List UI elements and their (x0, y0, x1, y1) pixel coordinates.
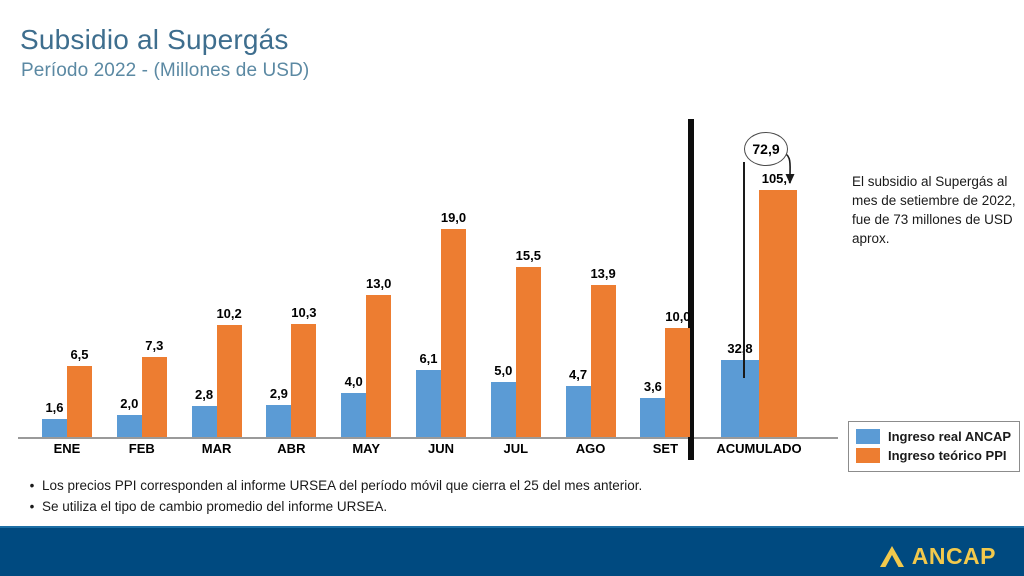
slide-canvas: Subsidio al Supergás Período 2022 - (Mil… (0, 0, 1024, 576)
bar-value-teorico-jul: 15,5 (498, 248, 558, 263)
bar-real-ago[interactable] (566, 386, 591, 437)
bar-real-feb[interactable] (117, 415, 142, 437)
bar-real-acumulado[interactable] (721, 360, 759, 437)
bar-real-set[interactable] (640, 398, 665, 437)
bar-value-real-jul: 5,0 (473, 363, 533, 378)
footnote-item: • Los precios PPI corresponden al inform… (22, 476, 722, 497)
bar-teorico-ago[interactable] (591, 285, 616, 437)
bar-value-teorico-feb: 7,3 (124, 338, 184, 353)
bar-value-real-jun: 6,1 (399, 351, 459, 366)
bar-value-real-set: 3,6 (623, 379, 683, 394)
legend-label-teorico: Ingreso teórico PPI (888, 448, 1006, 463)
bar-teorico-jul[interactable] (516, 267, 541, 437)
footer-band (0, 528, 1024, 576)
footnote-list: • Los precios PPI corresponden al inform… (22, 476, 722, 518)
legend-item-teorico[interactable]: Ingreso teórico PPI (856, 446, 1011, 465)
bar-value-real-abr: 2,9 (249, 386, 309, 401)
bar-value-teorico-set: 10,0 (648, 309, 708, 324)
legend-item-real[interactable]: Ingreso real ANCAP (856, 427, 1011, 446)
category-label-set: SET (615, 441, 715, 456)
ancap-logo: ANCAP (879, 543, 996, 570)
bar-real-mar[interactable] (192, 406, 217, 437)
footnote-bullet-icon: • (22, 476, 42, 497)
bar-value-teorico-jun: 19,0 (424, 210, 484, 225)
bar-value-teorico-mar: 10,2 (199, 306, 259, 321)
bar-real-jun[interactable] (416, 370, 441, 437)
ancap-logo-text: ANCAP (912, 543, 996, 570)
callout-leader-line (743, 162, 745, 378)
footnote-text: Los precios PPI corresponden al informe … (42, 476, 642, 497)
x-axis-line (18, 437, 838, 439)
legend-swatch-teorico-icon (856, 448, 880, 463)
bar-teorico-jun[interactable] (441, 229, 466, 437)
bar-value-real-feb: 2,0 (99, 396, 159, 411)
bar-value-real-ene: 1,6 (25, 400, 85, 415)
bar-value-real-mar: 2,8 (174, 387, 234, 402)
bar-teorico-abr[interactable] (291, 324, 316, 437)
callout-bubble-72-9: 72,9 (744, 132, 788, 166)
bar-value-teorico-ene: 6,5 (50, 347, 110, 362)
bar-real-may[interactable] (341, 393, 366, 437)
bar-real-abr[interactable] (266, 405, 291, 437)
ancap-chevron-icon (879, 545, 905, 569)
bar-value-real-ago: 4,7 (548, 367, 608, 382)
footnote-item: • Se utiliza el tipo de cambio promedio … (22, 497, 722, 518)
category-label-acumulado: ACUMULADO (709, 441, 809, 456)
bar-value-real-acumulado: 32,8 (710, 341, 770, 356)
bar-real-ene[interactable] (42, 419, 67, 437)
footnote-bullet-icon: • (22, 497, 42, 518)
chart-legend: Ingreso real ANCAP Ingreso teórico PPI (848, 421, 1020, 472)
footnote-text: Se utiliza el tipo de cambio promedio de… (42, 497, 387, 518)
bar-value-teorico-may: 13,0 (349, 276, 409, 291)
bar-value-teorico-ago: 13,9 (573, 266, 633, 281)
legend-swatch-real-icon (856, 429, 880, 444)
annotation-text: El subsidio al Supergás al mes de setiem… (852, 172, 1020, 249)
bar-real-jul[interactable] (491, 382, 516, 437)
bar-teorico-may[interactable] (366, 295, 391, 437)
bar-teorico-mar[interactable] (217, 325, 242, 437)
bar-value-teorico-abr: 10,3 (274, 305, 334, 320)
legend-label-real: Ingreso real ANCAP (888, 429, 1011, 444)
bar-teorico-acumulado[interactable] (759, 190, 797, 437)
bar-value-real-may: 4,0 (324, 374, 384, 389)
